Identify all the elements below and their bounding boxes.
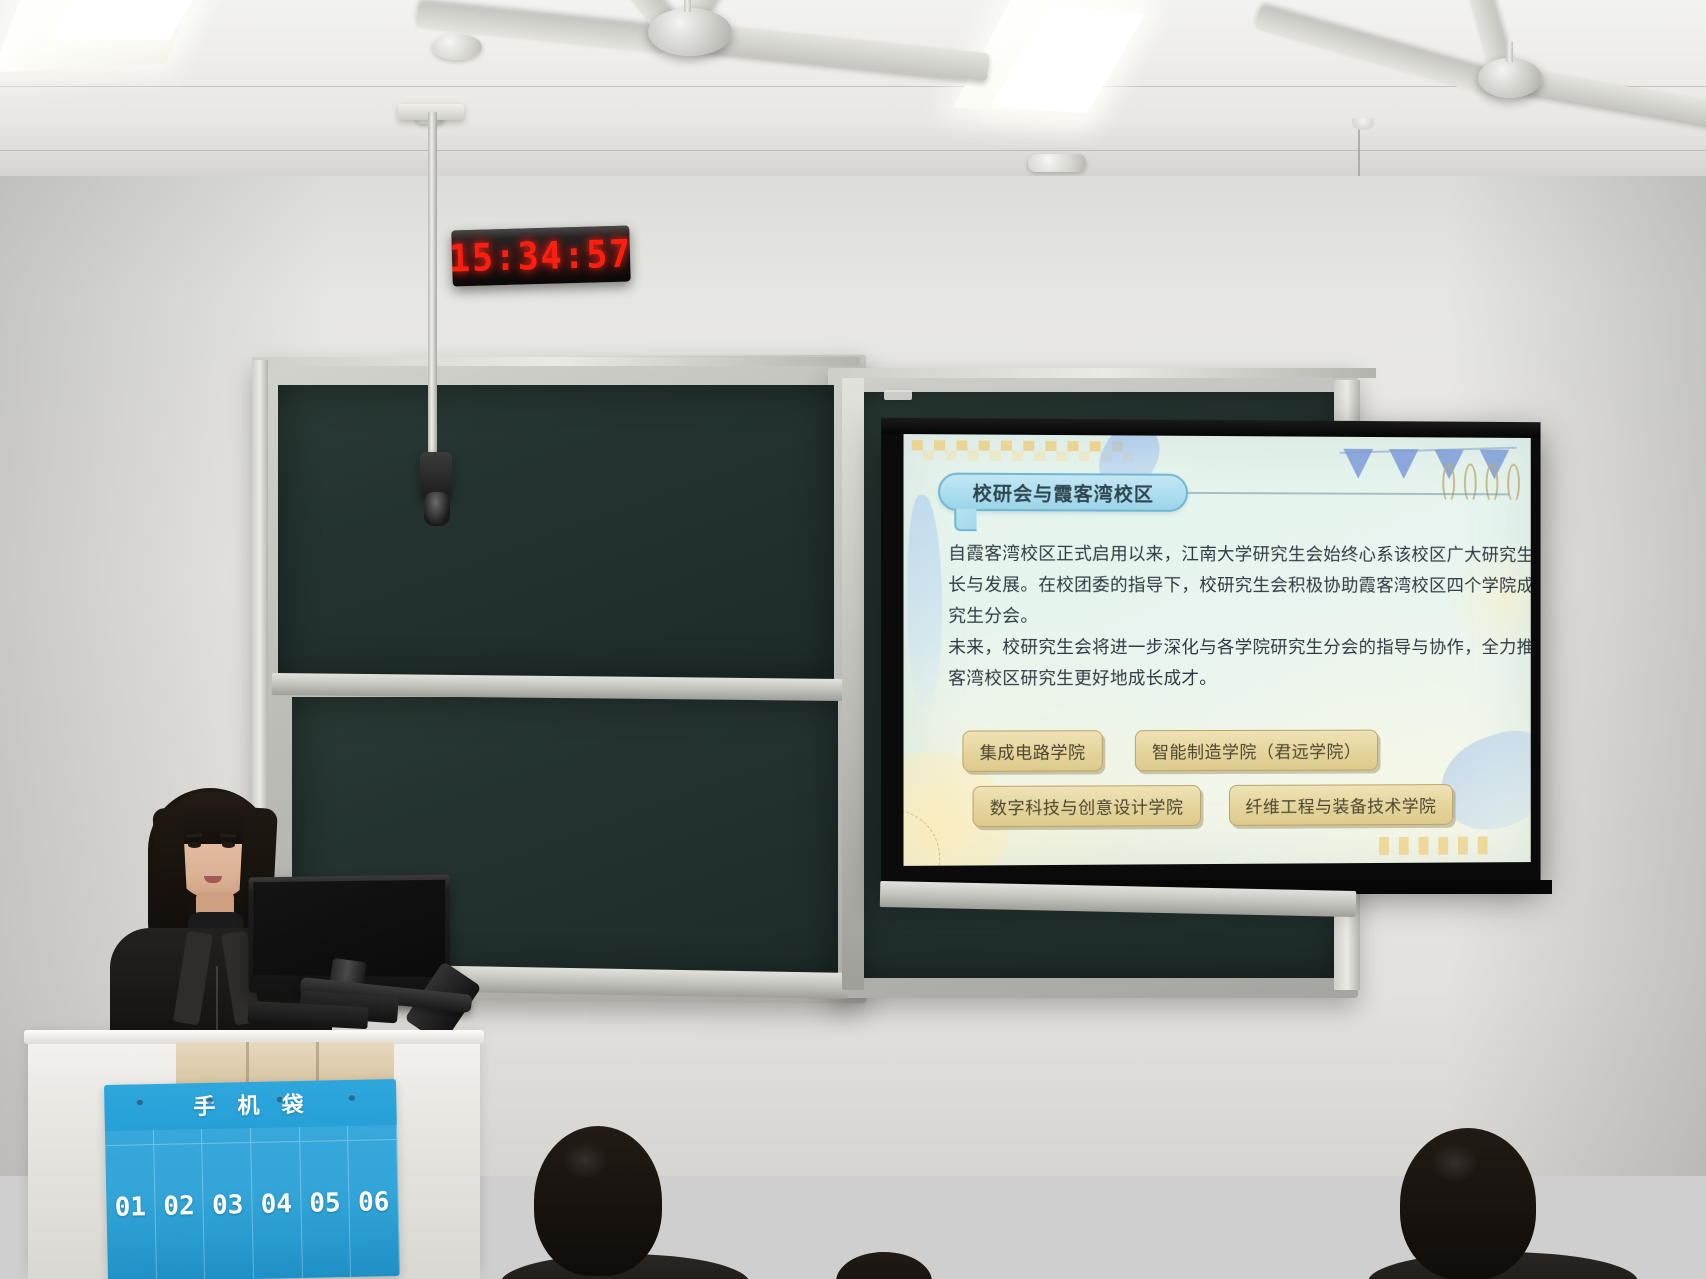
pouch-pocket[interactable]: 02 <box>154 1129 206 1279</box>
blackboard-right-top-edge <box>836 368 1376 378</box>
blackboard-top-edge <box>252 357 860 366</box>
blackboard-divider-rail <box>842 372 864 990</box>
pocket-number: 04 <box>252 1189 300 1220</box>
pouch-header: 手 机 袋 <box>104 1079 397 1129</box>
pocket-seam <box>349 1139 397 1141</box>
audience-head <box>836 1252 932 1279</box>
classroom-photo: 15:34:57 <box>0 0 1706 1279</box>
college-pill: 集成电路学院 <box>962 730 1102 772</box>
ceiling-fan-hub <box>648 8 732 56</box>
college-pill: 纤维工程与装备技术学院 <box>1228 784 1453 826</box>
hair-highlight <box>562 1141 608 1180</box>
checkered-decoration-icon <box>1379 836 1497 855</box>
pouch-pocket[interactable]: 04 <box>251 1127 303 1279</box>
smoke-detector-icon <box>432 34 482 60</box>
projector-mount-pole <box>428 112 437 468</box>
ceiling-seam <box>0 150 1706 151</box>
projection-screen[interactable]: 校研会与霞客湾校区 自霞客湾校区正式启用以来，江南大学研究生会始终心系该校区广大… <box>881 418 1540 889</box>
pouch-pocket[interactable]: 01 <box>105 1130 157 1279</box>
eye-left <box>188 842 201 848</box>
pocket-number: 06 <box>350 1187 398 1218</box>
digital-wall-clock: 15:34:57 <box>451 226 630 287</box>
pocket-seam <box>203 1142 251 1144</box>
ribbon-decoration-icon <box>908 495 943 707</box>
speech-bubble-tail-icon <box>954 509 976 531</box>
pocket-number: 02 <box>155 1191 203 1222</box>
bunting-flag <box>1343 449 1373 479</box>
title-underline <box>1186 492 1509 495</box>
blackboard-panel-upper-left <box>278 385 834 679</box>
pouch-pocket[interactable]: 05 <box>300 1126 352 1279</box>
slide-paragraph-line: 长与发展。在校团委的指导下，校研究生会积极协助霞客湾校区四个学院成立研 <box>948 570 1505 602</box>
slide-paragraph-line: 未来，校研究生会将进一步深化与各学院研究生分会的指导与协作，全力推霞 <box>948 633 1505 664</box>
pouch-header-char: 袋 <box>281 1087 308 1120</box>
pocket-seam <box>251 1141 299 1143</box>
slide-title-text: 校研会与霞客湾校区 <box>973 478 1154 506</box>
pocket-number: 05 <box>301 1188 349 1219</box>
phone-pouch-organizer: 手 机 袋 01 02 03 04 <box>104 1079 400 1279</box>
slide-body-text: 自霞客湾校区正式启用以来，江南大学研究生会始终心系该校区广大研究生的成 长与发展… <box>948 539 1505 695</box>
college-row-1: 集成电路学院 智能制造学院（君远学院） <box>962 729 1507 772</box>
ceiling-fan-rod <box>684 0 691 12</box>
pocket-seam <box>154 1143 202 1145</box>
projector-lens-icon <box>424 492 450 526</box>
spiral-ring <box>1464 463 1477 503</box>
spiral-rings-icon <box>1434 463 1523 509</box>
audience-head <box>534 1126 662 1276</box>
ceiling-fan-hub <box>1478 58 1542 98</box>
slide-paragraph-line: 客湾校区研究生更好地成长成才。 <box>948 664 1505 695</box>
slide-paragraph-line: 究生分会。 <box>948 602 1505 634</box>
hair-highlight <box>1430 1143 1479 1183</box>
presentation-slide: 校研会与霞客湾校区 自霞客湾校区正式启用以来，江南大学研究生会始终心系该校区广大… <box>904 434 1531 866</box>
college-pill: 数字科技与创意设计学院 <box>973 785 1201 827</box>
pouch-pocket[interactable]: 03 <box>202 1128 254 1279</box>
ceiling-seam <box>0 86 1706 87</box>
college-row-2: 数字科技与创意设计学院 纤维工程与装备技术学院 <box>962 784 1507 827</box>
eye-right <box>222 842 235 848</box>
spiral-ring <box>1442 463 1455 503</box>
ceiling-fan-rod <box>1506 42 1513 62</box>
slide-title-pill: 校研会与霞客湾校区 <box>938 473 1188 512</box>
bunting-flag <box>1389 449 1419 479</box>
pocket-number: 03 <box>204 1190 252 1221</box>
board-label-sticker <box>884 390 912 400</box>
dashed-ring-icon <box>904 809 941 866</box>
pouch-header-char: 机 <box>237 1088 264 1121</box>
pouch-header-char: 手 <box>193 1089 220 1122</box>
college-list: 集成电路学院 智能制造学院（君远学院） 数字科技与创意设计学院 纤维工程与装备技… <box>962 729 1507 841</box>
clock-time-display: 15:34:57 <box>451 231 630 280</box>
pouch-pocket[interactable]: 06 <box>348 1125 400 1278</box>
pouch-pocket-row: 01 02 03 04 05 06 <box>105 1125 400 1279</box>
college-pill: 智能制造学院（君远学院） <box>1135 730 1378 772</box>
ceiling-speaker-icon <box>1028 154 1086 172</box>
spiral-ring <box>1507 464 1520 504</box>
slide-paragraph-line: 自霞客湾校区正式启用以来，江南大学研究生会始终心系该校区广大研究生的成 <box>948 539 1505 572</box>
pocket-seam <box>300 1140 348 1142</box>
pocket-seam <box>105 1144 153 1146</box>
ceiling-mount <box>1352 118 1374 130</box>
pocket-number: 01 <box>106 1192 154 1223</box>
audience-head <box>1400 1128 1536 1279</box>
spiral-ring <box>1486 464 1499 504</box>
